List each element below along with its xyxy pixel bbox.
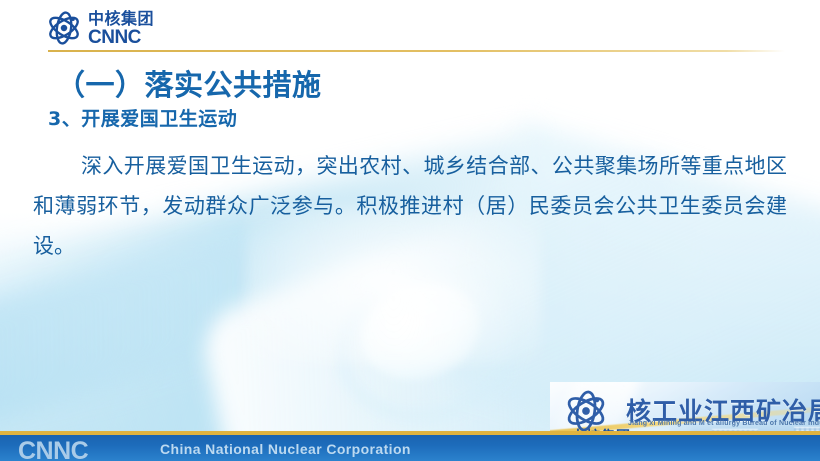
footer-full-name: China National Nuclear Corporation (160, 441, 411, 457)
footer-bar: CNNC China National Nuclear Corporation (0, 431, 820, 461)
page-subtitle: 3、开展爱国卫生运动 (48, 104, 237, 131)
footer-abbr: CNNC (18, 437, 88, 461)
banner-title-english: Jiang xi Mining and M et allurgy Bureau … (628, 420, 820, 427)
page-title: （一）落实公共措施 (56, 62, 322, 104)
slide-canvas: 中核集团 CNNC （一）落实公共措施 3、开展爱国卫生运动 深入开展爱国卫生运… (0, 0, 820, 461)
header-divider (48, 50, 785, 52)
body-paragraph: 深入开展爱国卫生运动，突出农村、城乡结合部、公共聚集场所等重点地区和薄弱环节，发… (33, 146, 787, 266)
header-logo-text: 中核集团 CNNC (88, 10, 154, 47)
header-logo-chinese: 中核集团 (88, 11, 154, 27)
banner-atom-electron-orbit-icon (564, 390, 608, 432)
atom-electron-orbit-icon (46, 11, 82, 45)
header-logo-english: CNNC (88, 28, 154, 47)
header-logo: 中核集团 CNNC (46, 10, 181, 46)
